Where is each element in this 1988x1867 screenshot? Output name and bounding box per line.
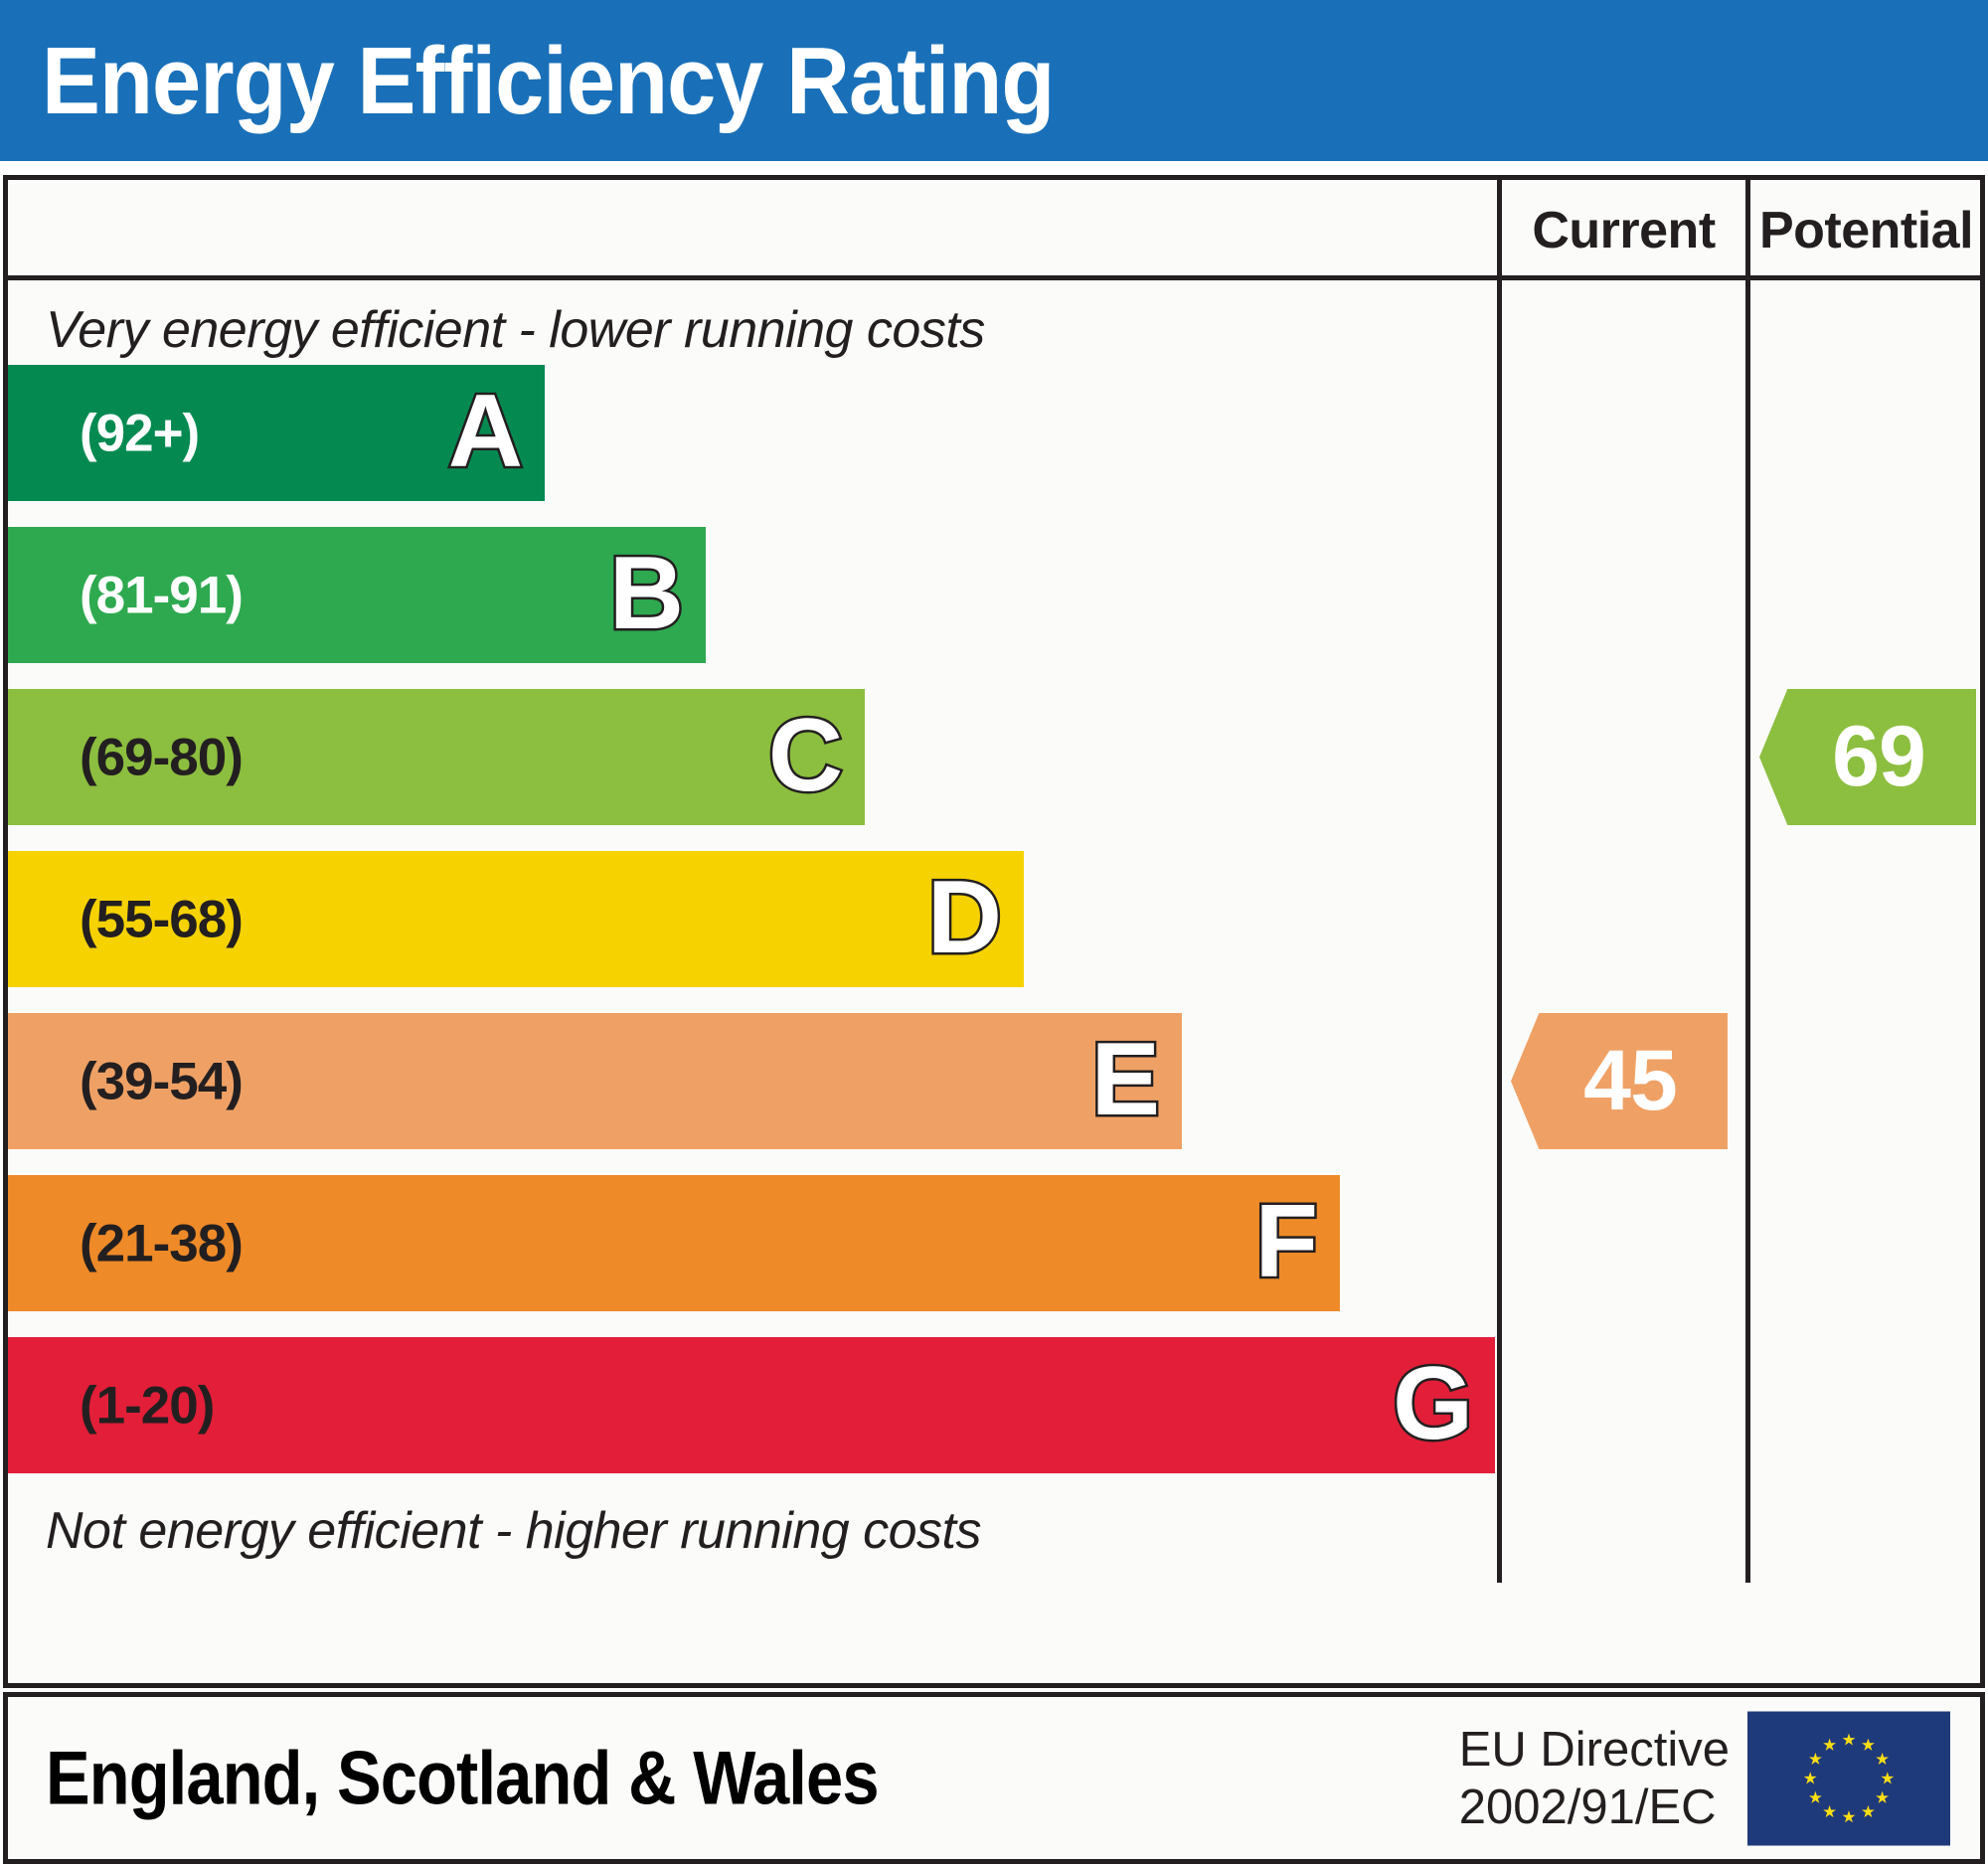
band-letter-f: F (1254, 1189, 1318, 1292)
current-rating-value: 45 (1583, 1032, 1677, 1130)
energy-efficiency-certificate: Energy Efficiency Rating Current Potenti… (0, 0, 1988, 1867)
band-letter-g: G (1393, 1351, 1473, 1454)
band-row-d: (55-68)D (8, 851, 1024, 987)
band-bars: (92+)A(81-91)B(69-80)C(55-68)D(39-54)E(2… (8, 365, 1497, 1498)
page-title: Energy Efficiency Rating (42, 24, 1054, 139)
eu-star (1881, 1772, 1894, 1783)
band-range-a: (92+) (80, 403, 199, 463)
footer-directive: EU Directive 2002/91/EC (1459, 1721, 1730, 1836)
eu-flag-stars (1747, 1711, 1950, 1845)
title-bar: Energy Efficiency Rating (0, 0, 1988, 161)
band-letter-c: C (768, 703, 843, 806)
eu-star (1876, 1790, 1889, 1802)
caption-inefficient: Not energy efficient - higher running co… (8, 1501, 1535, 1561)
eu-star (1809, 1752, 1822, 1764)
band-range-b: (81-91) (80, 565, 243, 625)
band-range-f: (21-38) (80, 1213, 243, 1273)
eu-star (1823, 1738, 1836, 1750)
column-divider-current (1497, 280, 1502, 1583)
eu-star (1809, 1790, 1822, 1802)
band-row-g: (1-20)G (8, 1337, 1495, 1473)
column-header-row: Current Potential (8, 180, 1980, 280)
band-row-c: (69-80)C (8, 689, 865, 825)
directive-line-2: 2002/91/EC (1459, 1779, 1730, 1836)
eu-star (1823, 1804, 1836, 1816)
band-range-c: (69-80) (80, 727, 243, 787)
eu-star (1804, 1772, 1817, 1783)
band-letter-e: E (1091, 1027, 1160, 1130)
band-row-f: (21-38)F (8, 1175, 1340, 1311)
column-divider-potential (1745, 280, 1750, 1583)
eu-star (1862, 1738, 1875, 1750)
caption-efficient: Very energy efficient - lower running co… (8, 300, 1535, 360)
band-row-b: (81-91)B (8, 527, 706, 663)
eu-flag-icon (1745, 1709, 1952, 1847)
band-row-a: (92+)A (8, 365, 545, 501)
band-letter-a: A (448, 379, 523, 482)
band-range-d: (55-68) (80, 889, 243, 949)
footer-region-label: England, Scotland & Wales (46, 1735, 879, 1821)
column-header-potential: Potential (1745, 180, 1982, 280)
band-letter-b: B (609, 541, 684, 644)
eu-star (1843, 1733, 1856, 1745)
band-row-e: (39-54)E (8, 1013, 1182, 1149)
eu-star (1876, 1752, 1889, 1764)
band-range-e: (39-54) (80, 1051, 243, 1111)
column-header-current: Current (1497, 180, 1745, 280)
band-letter-d: D (927, 865, 1002, 968)
rating-table: Current Potential Very energy efficient … (3, 175, 1985, 1688)
directive-line-1: EU Directive (1459, 1721, 1730, 1779)
eu-star (1843, 1810, 1856, 1822)
potential-rating-badge: 69 (1759, 689, 1976, 825)
footer-bar: England, Scotland & Wales EU Directive 2… (3, 1692, 1985, 1864)
band-chart-area: Very energy efficient - lower running co… (8, 280, 1497, 1583)
potential-rating-value: 69 (1832, 708, 1925, 806)
current-rating-badge: 45 (1511, 1013, 1728, 1149)
eu-star (1862, 1804, 1875, 1816)
band-range-g: (1-20) (80, 1375, 214, 1436)
